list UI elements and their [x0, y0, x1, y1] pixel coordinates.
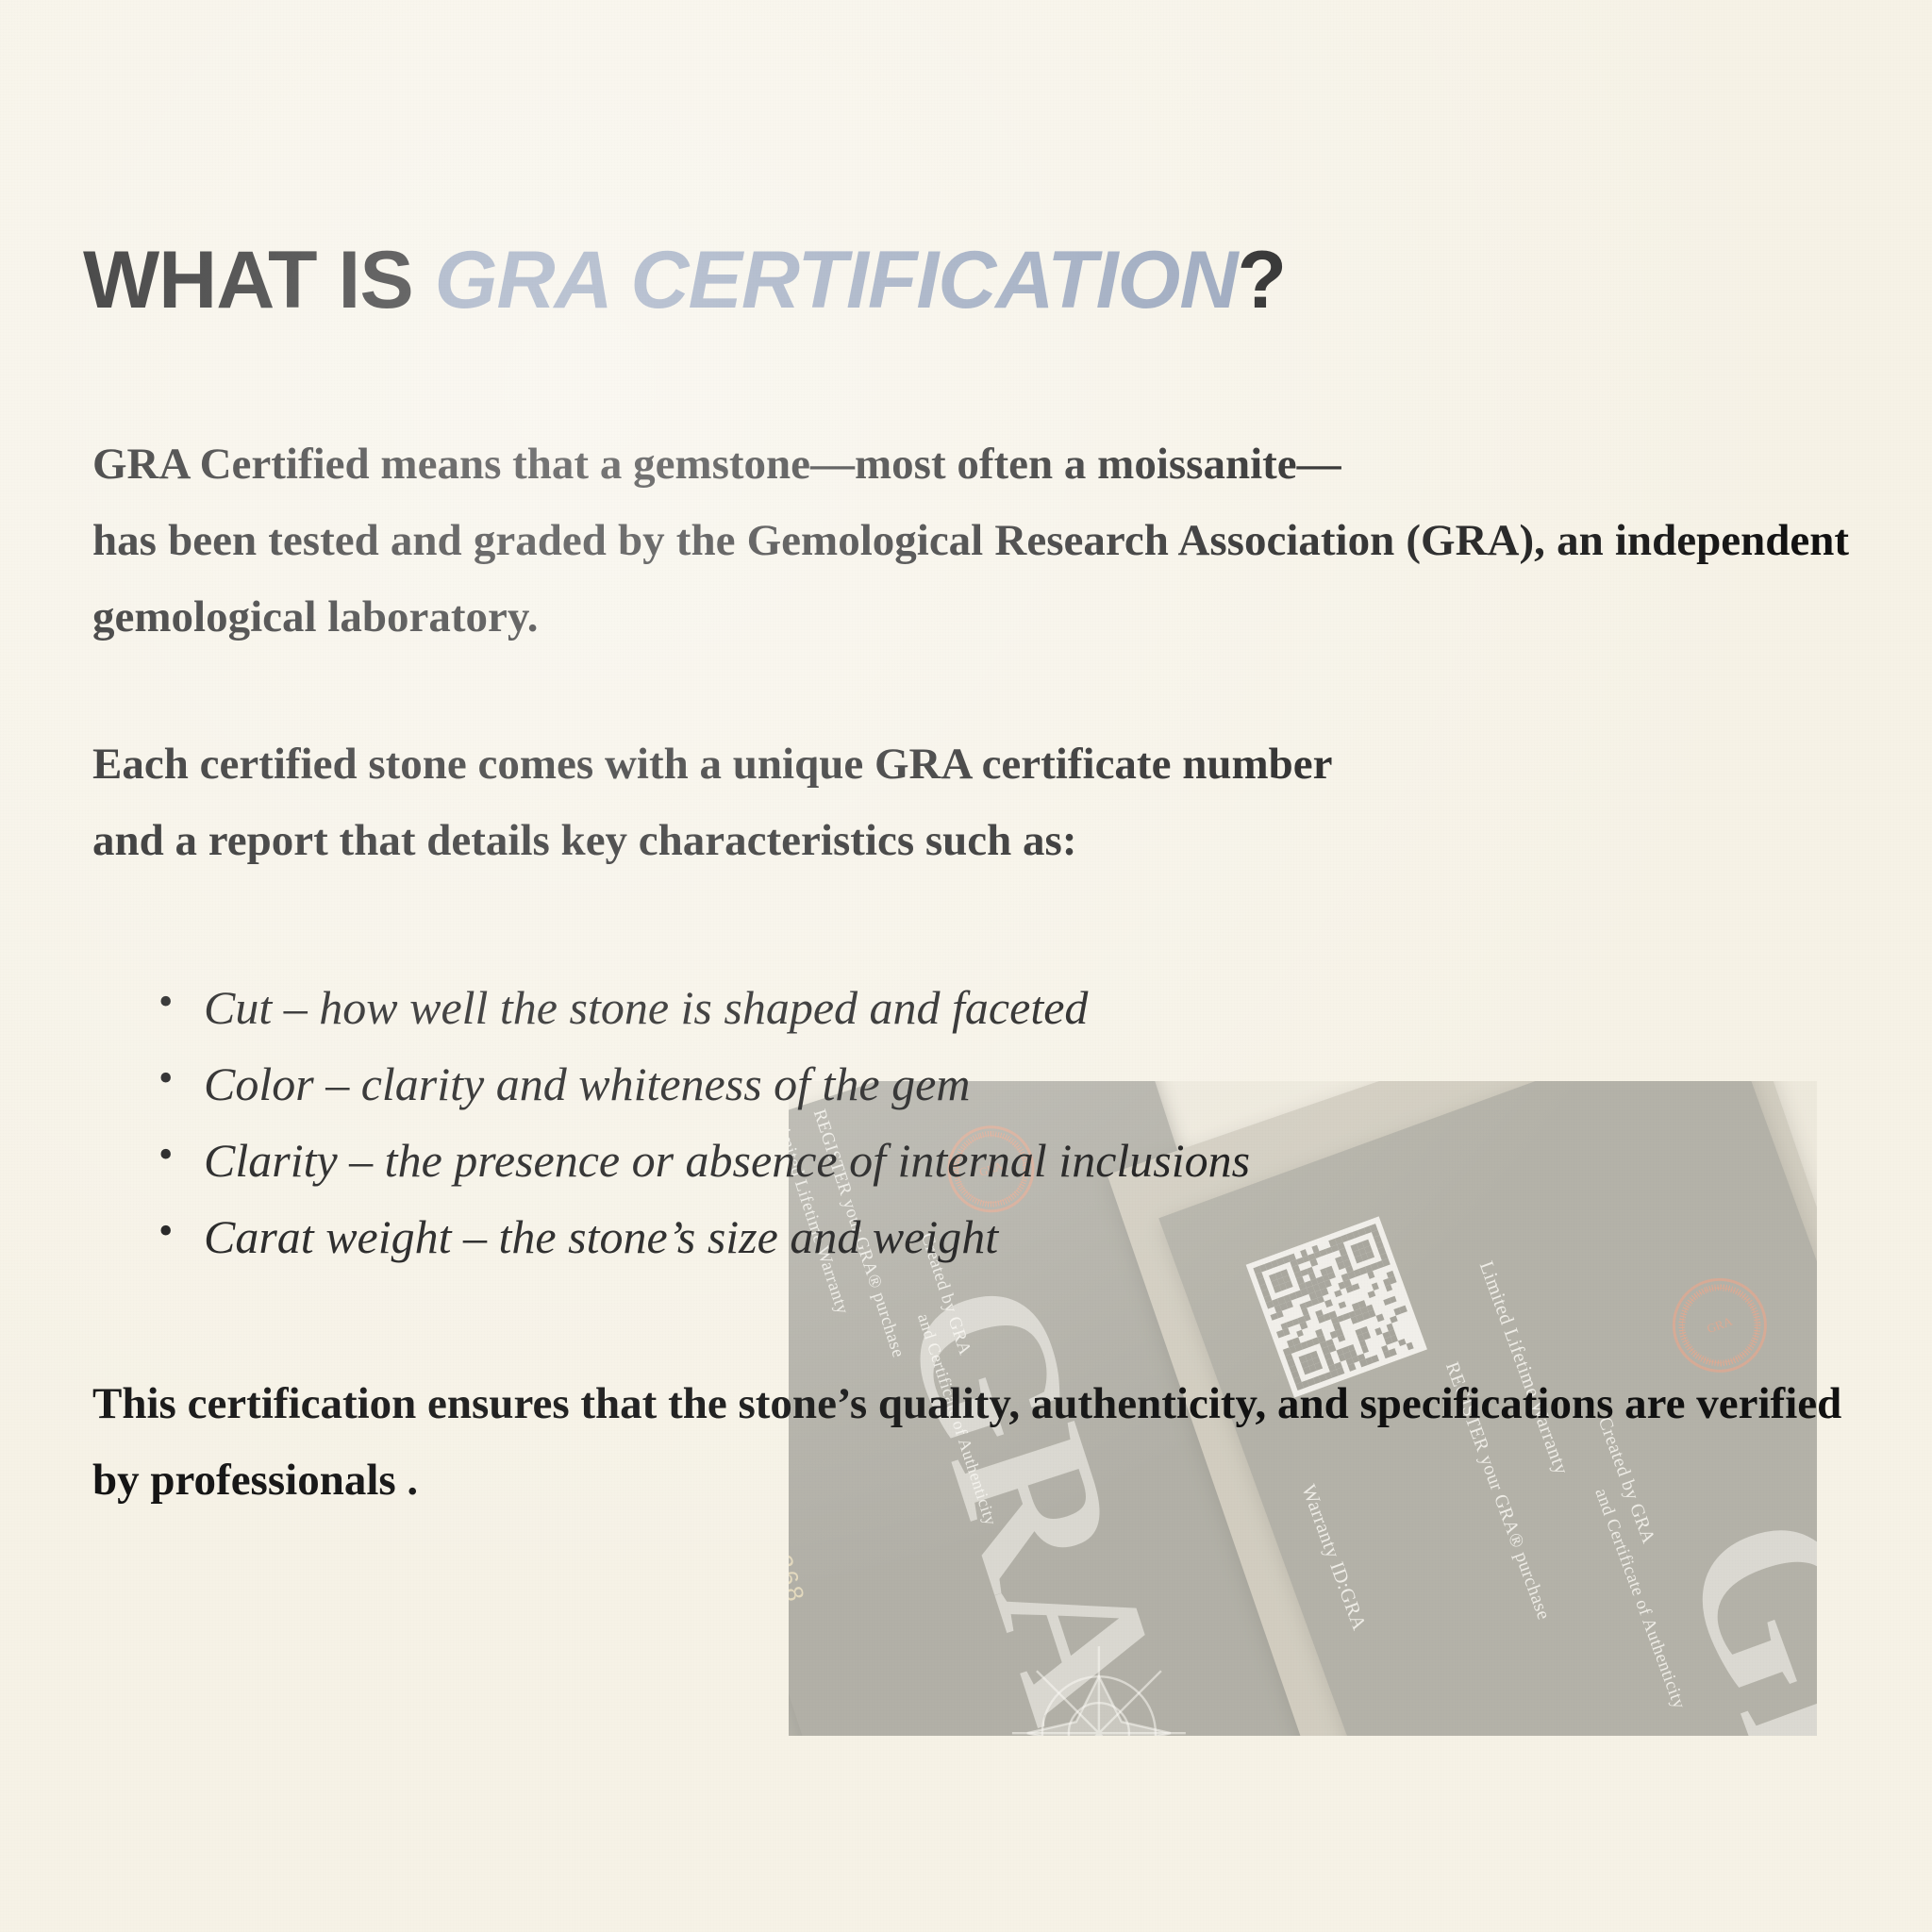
characteristics-list: Cut – how well the stone is shaped and f…	[92, 970, 1849, 1275]
list-item: Color – clarity and whiteness of the gem	[158, 1046, 1849, 1123]
paragraph-intro-line1: GRA Certified means that a gemstone—most…	[92, 426, 1849, 503]
page-title: WHAT IS GRA CERTIFICATION?	[83, 240, 1286, 321]
paragraph-certificate-line1: Each certified stone comes with a unique…	[92, 726, 1849, 803]
page-title-prefix: WHAT IS	[83, 235, 435, 325]
list-item: Clarity – the presence or absence of int…	[158, 1123, 1849, 1199]
spacer-1	[92, 655, 1849, 726]
page-content: WHAT IS GRA CERTIFICATION? GRA Certified…	[0, 0, 1932, 1932]
spacer-3	[92, 1275, 1849, 1366]
paragraph-intro-rest: has been tested and graded by the Gemolo…	[92, 503, 1849, 656]
paragraph-certificate-line2: and a report that details key characteri…	[92, 803, 1849, 879]
spacer-2	[92, 879, 1849, 970]
body-copy: GRA Certified means that a gemstone—most…	[92, 426, 1849, 1519]
paragraph-conclusion: This certification ensures that the ston…	[92, 1366, 1849, 1519]
page-title-highlight: GRA CERTIFICATION	[435, 235, 1238, 325]
list-item: Cut – how well the stone is shaped and f…	[158, 970, 1849, 1046]
list-item: Carat weight – the stone’s size and weig…	[158, 1199, 1849, 1275]
page-title-suffix: ?	[1238, 235, 1287, 325]
